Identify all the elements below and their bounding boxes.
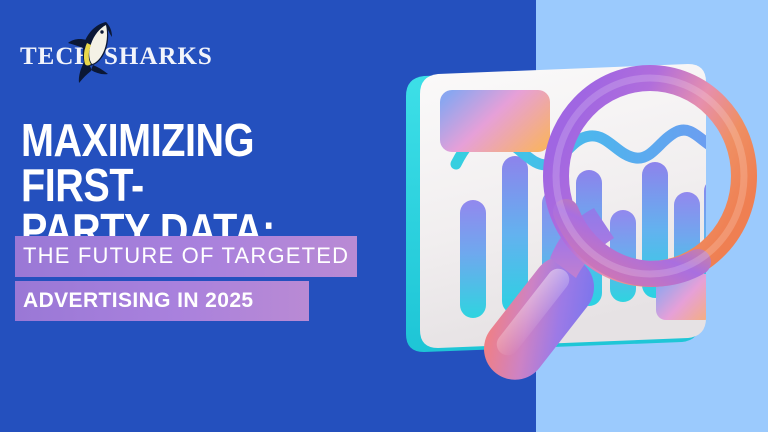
shark-icon (62, 18, 124, 84)
page-title: MAXIMIZING FIRST- PARTY DATA: (21, 118, 365, 253)
subtitle-group: THE FUTURE OF TARGETED ADVERTISING IN 20… (15, 236, 357, 321)
blog-banner: TECH SHARKS MAXIMIZ (0, 0, 768, 432)
subtitle-line-2: ADVERTISING IN 2025 (15, 281, 309, 321)
subtitle-line-1: THE FUTURE OF TARGETED (15, 236, 357, 277)
brand-logo[interactable]: TECH SHARKS (14, 18, 204, 84)
top-left-chip (440, 90, 550, 152)
data-analytics-illustration (398, 52, 768, 382)
